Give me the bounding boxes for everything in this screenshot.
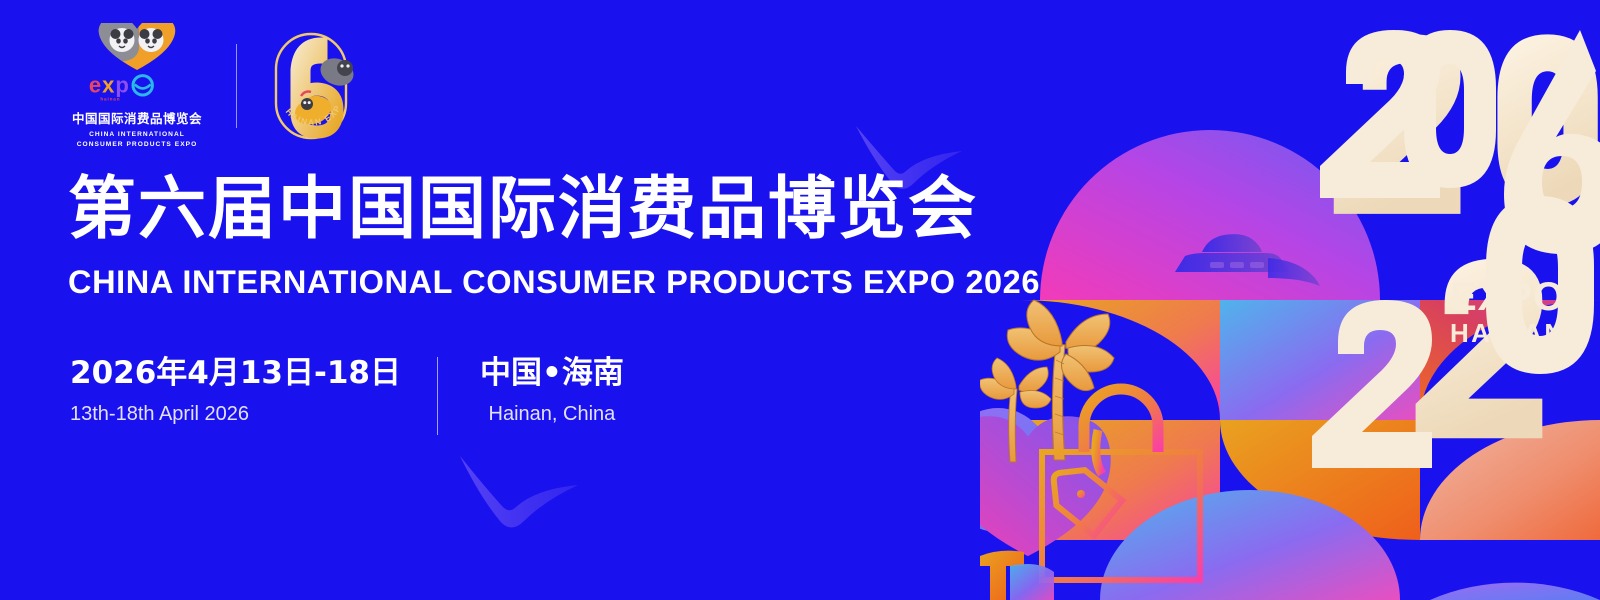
logo-name-en-line2: CONSUMER PRODUCTS EXPO — [77, 140, 198, 150]
meta-divider — [437, 357, 438, 435]
two-animal-faces-heart-icon — [93, 23, 181, 71]
seagull-small-icon — [444, 452, 594, 532]
event-date: 2026年4月13日-18日 13th-18th April 2026 — [70, 355, 401, 426]
event-meta: 2026年4月13日-18日 13th-18th April 2026 中国•海… — [70, 355, 624, 435]
svg-text:EXPO: EXPO — [1450, 275, 1565, 319]
decorative-artwork: EXPO HAINAN — [980, 0, 1600, 600]
svg-text:hainan: hainan — [100, 96, 120, 101]
logo-name-en-line1: CHINA INTERNATIONAL — [77, 130, 198, 140]
logo-divider — [236, 44, 237, 128]
expo-banner: EXPO HAINAN — [0, 0, 1600, 600]
expo-hainan-label: EXPO HAINAN — [1450, 275, 1566, 348]
page-title: 第六届中国国际消费品博览会 — [68, 176, 1040, 244]
svg-text:HAINAN: HAINAN — [1450, 318, 1566, 348]
logo-lockup: e x p hainan 中国国际消费品博览会 CHINA INTERNATIO… — [62, 26, 359, 146]
event-location-en: Hainan, China — [489, 403, 616, 426]
hainan-expo-six-badge-icon[interactable]: HAINAN EXPO — [263, 28, 359, 144]
svg-text:e: e — [88, 73, 100, 97]
event-location-cn: 中国•海南 — [480, 355, 624, 392]
event-date-en: 13th-18th April 2026 — [70, 403, 401, 426]
page-subtitle: CHINA INTERNATIONAL CONSUMER PRODUCTS EX… — [68, 264, 1040, 301]
svg-text:x: x — [102, 73, 115, 97]
ciie-logo[interactable]: e x p hainan 中国国际消费品博览会 CHINA INTERNATIO… — [62, 23, 212, 149]
expo-wordmark: e x p hainan — [88, 73, 187, 103]
event-date-cn: 2026年4月13日-18日 — [70, 355, 401, 392]
headline-block: 第六届中国国际消费品博览会 CHINA INTERNATIONAL CONSUM… — [68, 176, 1040, 301]
event-location: 中国•海南 Hainan, China — [480, 355, 624, 426]
svg-text:p: p — [115, 73, 128, 97]
logo-name-en: CHINA INTERNATIONAL CONSUMER PRODUCTS EX… — [77, 130, 198, 149]
logo-name-cn: 中国国际消费品博览会 — [72, 108, 202, 127]
